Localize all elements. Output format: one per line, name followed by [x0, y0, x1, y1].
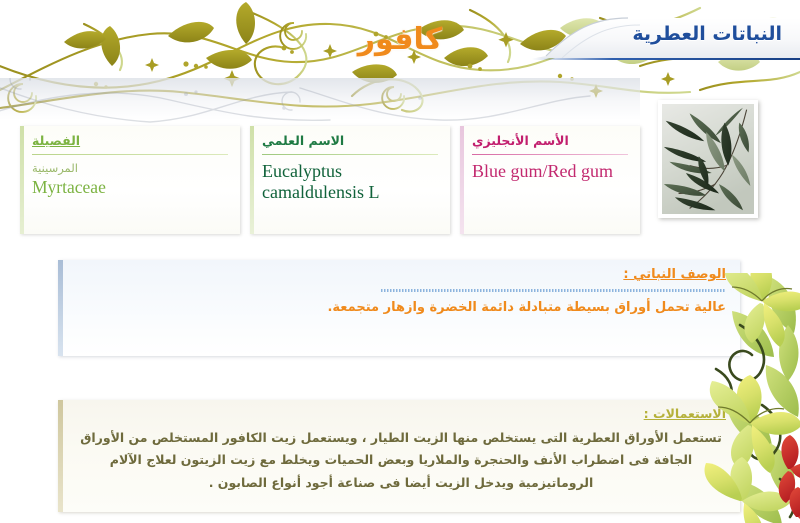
card-family-rule: [32, 154, 228, 156]
plant-photo-image: [662, 104, 754, 214]
panel-accent-bar: [58, 400, 63, 512]
card-english-label: الأسم الأنجليزي: [472, 133, 628, 152]
uses-label: الاستعمالات :: [644, 406, 726, 421]
botanical-description-text: عالية تحمل أوراق بسيطة متبادلة دائمة الخ…: [76, 298, 726, 318]
card-english-rule: [472, 154, 628, 156]
plant-photo: [658, 100, 758, 218]
section-header-title: النباتات العطرية: [632, 23, 782, 45]
card-scientific-rule: [262, 154, 438, 156]
botanical-description-rule: [381, 289, 726, 292]
vine-reflection-band: [0, 78, 640, 120]
card-family: الفصيلة المرسينية Myrtaceae: [20, 126, 240, 234]
info-cards-row: الفصيلة المرسينية Myrtaceae الاسم العلمي…: [20, 126, 640, 238]
card-family-arabic-name: المرسينية: [32, 161, 228, 176]
vine-reflection-icon: [0, 78, 660, 124]
eucalyptus-leaves-icon: [662, 104, 754, 214]
card-scientific-latin-name: Eucalyptus camaldulensis L: [262, 161, 438, 203]
card-family-label: الفصيلة: [32, 133, 228, 152]
card-english-name: الأسم الأنجليزي Blue gum/Red gum: [460, 126, 640, 234]
card-family-latin-name: Myrtaceae: [32, 177, 228, 197]
slide-canvas: النباتات العطرية كافور الفصيلة المرسينية…: [0, 0, 800, 523]
botanical-description-panel: الوصف النباتي : عالية تحمل أوراق بسيطة م…: [58, 260, 740, 356]
section-header-tab: النباتات العطرية: [532, 16, 800, 58]
card-english-latin-name: Blue gum/Red gum: [472, 161, 628, 182]
panel-accent-bar: [58, 260, 63, 356]
card-accent-bar: [20, 126, 24, 234]
botanical-description-label: الوصف النباتي :: [623, 267, 726, 282]
uses-panel: الاستعمالات : تستعمل الأوراق العطرية الت…: [58, 400, 740, 512]
card-accent-bar: [250, 126, 254, 234]
card-scientific-label: الاسم العلمي: [262, 133, 438, 152]
uses-text: تستعمل الأوراق العطرية التى يستخلص منها …: [76, 427, 726, 494]
header-underline: [532, 58, 800, 60]
card-accent-bar: [460, 126, 464, 234]
card-scientific-name: الاسم العلمي Eucalyptus camaldulensis L: [250, 126, 450, 234]
